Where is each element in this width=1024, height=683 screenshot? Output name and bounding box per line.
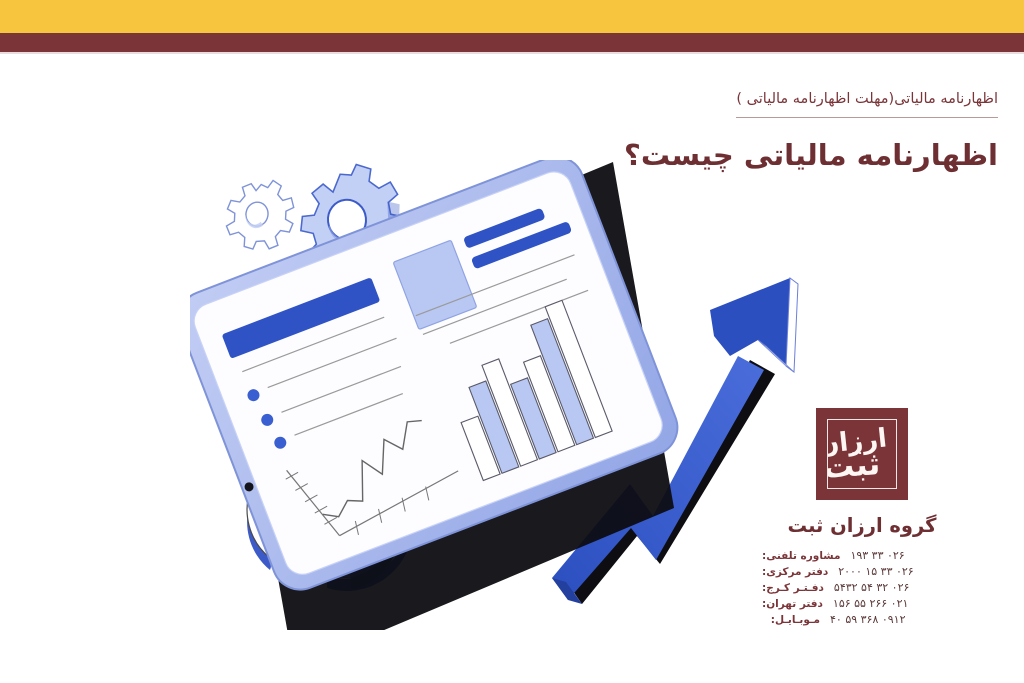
contact-label: مشاوره تلفنی: [762,550,840,562]
poster-canvas: اظهارنامه مالیاتی(مهلت اظهارنامه مالیاتی… [0,0,1024,683]
contact-row-phone-consult: ۱۹۳ ۳۳ ۰۲۶ مشاوره تلفنی: [762,549,962,562]
contact-number[interactable]: ۴۰ ۵۹ ۳۶۸ ۰۹۱۲ [830,613,962,626]
contact-label: دفتر مرکزی: [762,566,828,578]
contact-number[interactable]: ۱۵۶ ۵۵ ۲۶۶ ۰۲۱ [833,597,962,610]
logo-dots: ۰۰۰ [850,447,870,458]
top-band-hairline [0,52,1024,54]
contact-row-mobile: ۴۰ ۵۹ ۳۶۸ ۰۹۱۲ مـوبـایـل: [762,613,962,626]
breadcrumb: اظهارنامه مالیاتی(مهلت اظهارنامه مالیاتی… [736,89,998,118]
contact-row-head-office: ۲۰۰۰ ۱۵ ۳۳ ۰۲۶ دفتر مرکزی: [762,565,962,578]
contact-number[interactable]: ۵۴۳۲ ۵۴ ۳۲ ۰۲۶ [834,581,962,594]
top-band-maroon [0,33,1024,52]
contact-row-karaj-office: ۵۴۳۲ ۵۴ ۳۲ ۰۲۶ دفـتـر کـرج: [762,581,962,594]
contact-number[interactable]: ۱۹۳ ۳۳ ۰۲۶ [850,549,962,562]
contact-number[interactable]: ۲۰۰۰ ۱۵ ۳۳ ۰۲۶ [838,565,962,578]
brand-block: ارزان ثبت ۰۰۰ گروه ارزان ثبت ۱۹۳ ۳۳ ۰۲۶ … [762,408,962,626]
contact-row-tehran-office: ۱۵۶ ۵۵ ۲۶۶ ۰۲۱ دفتر تهران: [762,597,962,610]
contact-label: مـوبـایـل: [762,614,820,626]
contact-label: دفتر تهران: [762,598,823,610]
contact-label: دفـتـر کـرج: [762,582,824,594]
top-band-gold [0,0,1024,33]
contact-list: ۱۹۳ ۳۳ ۰۲۶ مشاوره تلفنی: ۲۰۰۰ ۱۵ ۳۳ ۰۲۶ … [762,549,962,626]
logo-inner-frame: ارزان ثبت ۰۰۰ [827,419,897,489]
gear-small-icon [221,174,299,256]
brand-name: گروه ارزان ثبت [762,514,962,537]
illustration [190,160,830,630]
brand-logo-icon: ارزان ثبت ۰۰۰ [816,408,908,500]
